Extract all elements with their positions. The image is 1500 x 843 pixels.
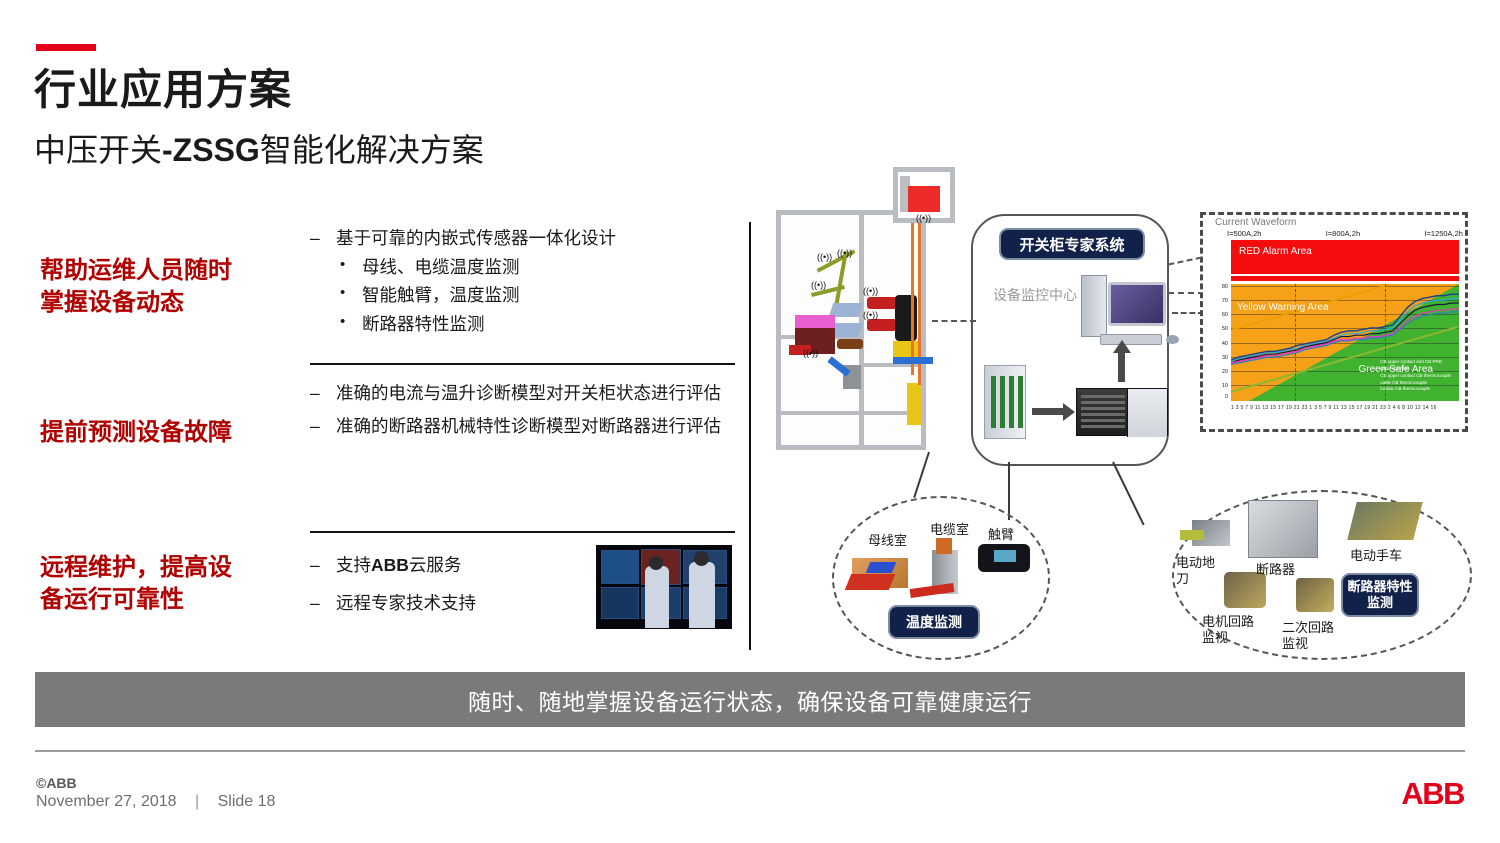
red-heading-1-line2: 掌握设备动态 <box>40 287 290 319</box>
bullet-group-2: – 准确的电流与温升诊断模型对开关柜状态进行评估 – 准确的断路器机械特性诊断模… <box>310 381 738 441</box>
connector-line <box>913 452 930 498</box>
sensor-signal-icon: ((•)) <box>863 287 878 296</box>
sensor-signal-icon: ((•)) <box>811 281 826 290</box>
dot-marker-icon: • <box>340 281 345 305</box>
cabinet-part <box>837 339 863 349</box>
red-heading-3-line1: 远程维护，提高设 <box>40 552 290 584</box>
page-subtitle: 中压开关-ZSSG智能化解决方案 <box>34 132 484 169</box>
chart-y-axis: 80 70 60 50 40 30 20 10 0 <box>1209 284 1229 401</box>
bullet-text-pre: 支持 <box>336 555 371 575</box>
contact-arm-device-icon <box>994 550 1016 562</box>
bullet-dash-item: – 准确的断路器机械特性诊断模型对断路器进行评估 <box>310 414 738 438</box>
chart-legend-item: CB upper contact CB thermocouple <box>1380 373 1451 380</box>
bullet-dot-item: • 母线、电缆温度监测 <box>310 253 738 281</box>
photo-person <box>645 566 669 628</box>
label-contact-arm: 触臂 <box>988 527 1014 543</box>
pc-keyboard-icon <box>1100 334 1162 345</box>
cabinet-top-compartment: ((•)) <box>893 167 955 223</box>
sensor-signal-icon: ((•)) <box>803 349 818 358</box>
current-waveform-chart: Current Waveform I=500A,2h I=800A,2h I=1… <box>1200 212 1468 432</box>
chart-column-header: I=800A,2h <box>1326 229 1360 238</box>
motorized-earthing-switch-icon <box>1180 530 1204 540</box>
divider-2 <box>310 531 735 533</box>
connector-line <box>1168 292 1204 294</box>
connector-line <box>1112 462 1144 526</box>
pc-mouse-icon <box>1166 335 1179 344</box>
footer-meta: November 27, 2018 | Slide 18 <box>36 793 275 811</box>
label-motorized-truck: 电动手车 <box>1350 548 1402 564</box>
dot-marker-icon: • <box>340 253 345 277</box>
din-rail-module-icon <box>984 365 1026 439</box>
chart-legend-item: busbar CB thermocouple <box>1380 386 1451 393</box>
pc-monitor-icon <box>1108 282 1166 326</box>
chart-plot-area: Yellow Warning Area Green Safe Area CB u… <box>1231 284 1459 401</box>
subtitle-pre: 中压开关 <box>34 132 162 168</box>
chart-column-header: I=1250A,2h <box>1424 229 1463 238</box>
busbar-device-icon <box>845 574 895 590</box>
bullet-text-post: 云服务 <box>409 555 462 575</box>
red-heading-1: 帮助运维人员随时 掌握设备动态 <box>40 255 290 318</box>
dash-marker-icon: – <box>310 226 320 250</box>
chart-red-alarm-zone: RED Alarm Area <box>1231 240 1459 274</box>
accent-bar <box>36 44 96 51</box>
label-circuit-breaker: 断路器 <box>1256 562 1295 578</box>
label-secondary-circuit-monitoring: 二次回路监视 <box>1282 620 1336 651</box>
cabinet-part <box>867 319 897 331</box>
footer-divider <box>35 750 1465 752</box>
summary-banner: 随时、随地掌握设备运行状态，确保设备可靠健康运行 <box>35 672 1465 727</box>
photo-person-head <box>649 556 663 570</box>
cable-device-icon <box>936 538 952 554</box>
photo-person-head <box>694 551 709 566</box>
red-heading-2-line1: 提前预测设备故障 <box>40 417 290 449</box>
cabinet-part <box>893 357 933 364</box>
cabinet-wiring <box>911 215 914 375</box>
cabinet-part <box>795 315 835 328</box>
cabinet-part <box>867 297 897 309</box>
chart-legend-item: CB upper contact and CB PRD <box>1380 359 1451 366</box>
red-heading-3: 远程维护，提高设 备运行可靠性 <box>40 552 290 615</box>
photo-screen <box>601 587 639 619</box>
cabinet-part <box>908 186 940 212</box>
solution-diagram: ((•)) ((•)) ((•)) ((•)) ((•)) ((•)) ((•)… <box>756 200 1484 662</box>
chart-yellow-warning-label: Yellow Warning Area <box>1237 302 1329 313</box>
abb-logo: ABB <box>1401 776 1464 812</box>
cabinet-part <box>893 341 919 357</box>
bullet-text-bold: ABB <box>371 555 409 575</box>
sensor-signal-icon: ((•)) <box>837 249 852 258</box>
breaker-monitoring-box: 断路器特性监测 <box>1341 573 1419 617</box>
connector-line <box>932 320 976 322</box>
switchgear-cabinet-illustration: ((•)) ((•)) ((•)) ((•)) ((•)) ((•)) ((•)… <box>776 210 926 450</box>
red-heading-1-line1: 帮助运维人员随时 <box>40 255 290 287</box>
dot-marker-icon: • <box>340 310 345 334</box>
label-cable-room: 电缆室 <box>930 522 969 538</box>
chart-legend-item: cable CB thermocouple <box>1380 380 1451 387</box>
connector-line <box>1008 462 1010 520</box>
copyright-text: ©ABB <box>36 775 77 791</box>
divider-1 <box>310 363 735 365</box>
bullet-text: 准确的断路器机械特性诊断模型对断路器进行评估 <box>336 416 721 436</box>
bullet-dash-item: – 基于可靠的内嵌式传感器一体化设计 <box>310 226 738 250</box>
footer-date: November 27, 2018 <box>36 793 177 810</box>
control-room-photo <box>596 545 732 629</box>
circuit-breaker-icon <box>1248 500 1318 558</box>
chart-legend: CB upper contact and CB PRD cable CB PRD… <box>1380 359 1451 393</box>
sensor-signal-icon: ((•)) <box>817 253 832 262</box>
chart-column-header: I=500A,2h <box>1227 229 1261 238</box>
sensor-signal-icon: ((•)) <box>863 311 878 320</box>
page-title: 行业应用方案 <box>34 67 292 113</box>
bullet-text: 准确的电流与温升诊断模型对开关柜状态进行评估 <box>336 383 721 403</box>
footer-slide-number: Slide 18 <box>218 793 276 810</box>
bullet-group-1: – 基于可靠的内嵌式传感器一体化设计 • 母线、电缆温度监测 • 智能触臂，温度… <box>310 226 738 338</box>
flow-arrow-icon <box>1118 352 1125 382</box>
chart-title: Current Waveform <box>1213 217 1298 228</box>
bullet-text: 智能触臂，温度监测 <box>362 285 520 305</box>
motorized-truck-icon <box>1347 502 1422 540</box>
chart-column-headers: I=500A,2h I=800A,2h I=1250A,2h <box>1227 229 1463 238</box>
slide-root: 行业应用方案 中压开关-ZSSG智能化解决方案 帮助运维人员随时 掌握设备动态 … <box>0 0 1500 843</box>
dash-marker-icon: – <box>310 591 320 615</box>
temperature-monitoring-box: 温度监测 <box>888 605 980 639</box>
bullet-text: 断路器特性监测 <box>362 314 485 334</box>
bullet-text: 母线、电缆温度监测 <box>362 257 520 277</box>
label-motor-circuit-monitoring: 电机回路监视 <box>1202 614 1256 645</box>
bullet-dot-item: • 断路器特性监测 <box>310 310 738 338</box>
label-motorized-earthing-switch: 电动地刀 <box>1176 555 1224 586</box>
bullet-text: 基于可靠的内嵌式传感器一体化设计 <box>336 228 616 248</box>
bullet-text: 远程专家技术支持 <box>336 593 476 613</box>
sensor-signal-icon: ((•)) <box>916 214 931 223</box>
photo-screen <box>601 550 639 584</box>
footer-separator: | <box>195 793 199 810</box>
expert-system-box: 开关柜专家系统 <box>999 228 1145 260</box>
bullet-dash-item: – 准确的电流与温升诊断模型对开关柜状态进行评估 <box>310 381 738 405</box>
busbar-device-icon <box>866 562 896 573</box>
flow-arrow-icon <box>1032 408 1064 415</box>
industrial-pc-icon <box>1076 388 1168 436</box>
monitoring-center-label: 设备监控中心 <box>993 285 1077 305</box>
subtitle-bold: -ZSSG <box>162 132 260 168</box>
cabinet-part <box>907 383 921 425</box>
bullet-dot-item: • 智能触臂，温度监测 <box>310 281 738 309</box>
photo-person <box>689 562 715 628</box>
label-busbar-room: 母线室 <box>868 533 907 549</box>
dash-marker-icon: – <box>310 381 320 405</box>
red-heading-2: 提前预测设备故障 <box>40 417 290 449</box>
chart-legend-item: cable CB PRD <box>1380 366 1451 373</box>
subtitle-post: 智能化解决方案 <box>260 132 484 168</box>
secondary-circuit-icon <box>1296 578 1334 612</box>
pc-tower-icon <box>1081 275 1107 337</box>
chart-red-strip <box>1231 276 1459 281</box>
dash-marker-icon: – <box>310 553 320 577</box>
chart-yellow-warning-zone: Yellow Warning Area <box>1237 302 1329 314</box>
cabinet-shelf <box>781 411 926 415</box>
chart-x-axis: 1 3 5 7 9 11 13 15 17 19 21 23 1 3 5 7 9… <box>1231 405 1459 411</box>
red-heading-3-line2: 备运行可靠性 <box>40 584 290 616</box>
connector-line <box>1168 256 1202 265</box>
dash-marker-icon: – <box>310 414 320 438</box>
vertical-divider <box>749 222 751 650</box>
